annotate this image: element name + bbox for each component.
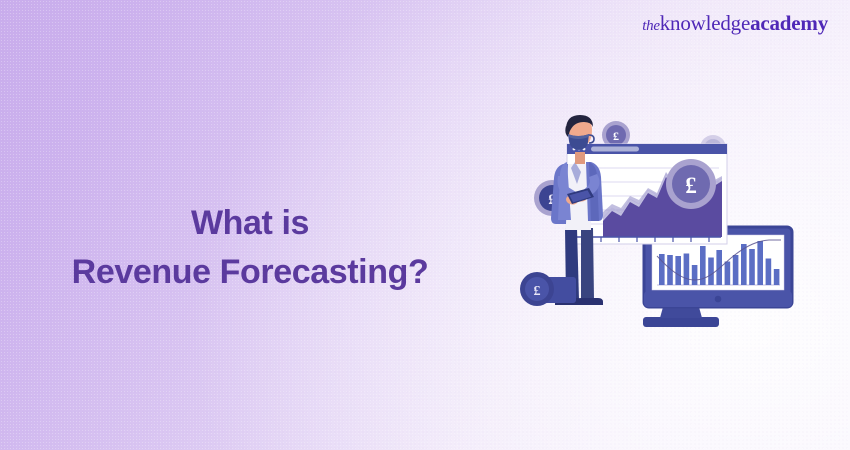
monitor-power-dot: [715, 296, 722, 303]
coin-large-icon: £: [666, 159, 716, 209]
title-line-2: Revenue Forecasting?: [0, 248, 500, 297]
shoe-right: [576, 298, 603, 305]
logo-knowledge: knowledge: [660, 11, 750, 35]
banner-root: theknowledgeacademy What is Revenue Fore…: [0, 0, 850, 450]
svg-text:£: £: [613, 129, 619, 143]
brand-logo[interactable]: theknowledgeacademy: [642, 13, 828, 34]
page-title: What is Revenue Forecasting?: [0, 199, 500, 298]
coin-bottom-stack-icon: £: [520, 272, 576, 306]
revenue-forecasting-illustration: £ £: [505, 108, 805, 340]
svg-text:£: £: [534, 284, 541, 299]
svg-text:£: £: [685, 173, 697, 198]
logo-the: the: [642, 18, 659, 34]
title-line-1: What is: [0, 199, 500, 248]
logo-academy: academy: [750, 11, 828, 35]
